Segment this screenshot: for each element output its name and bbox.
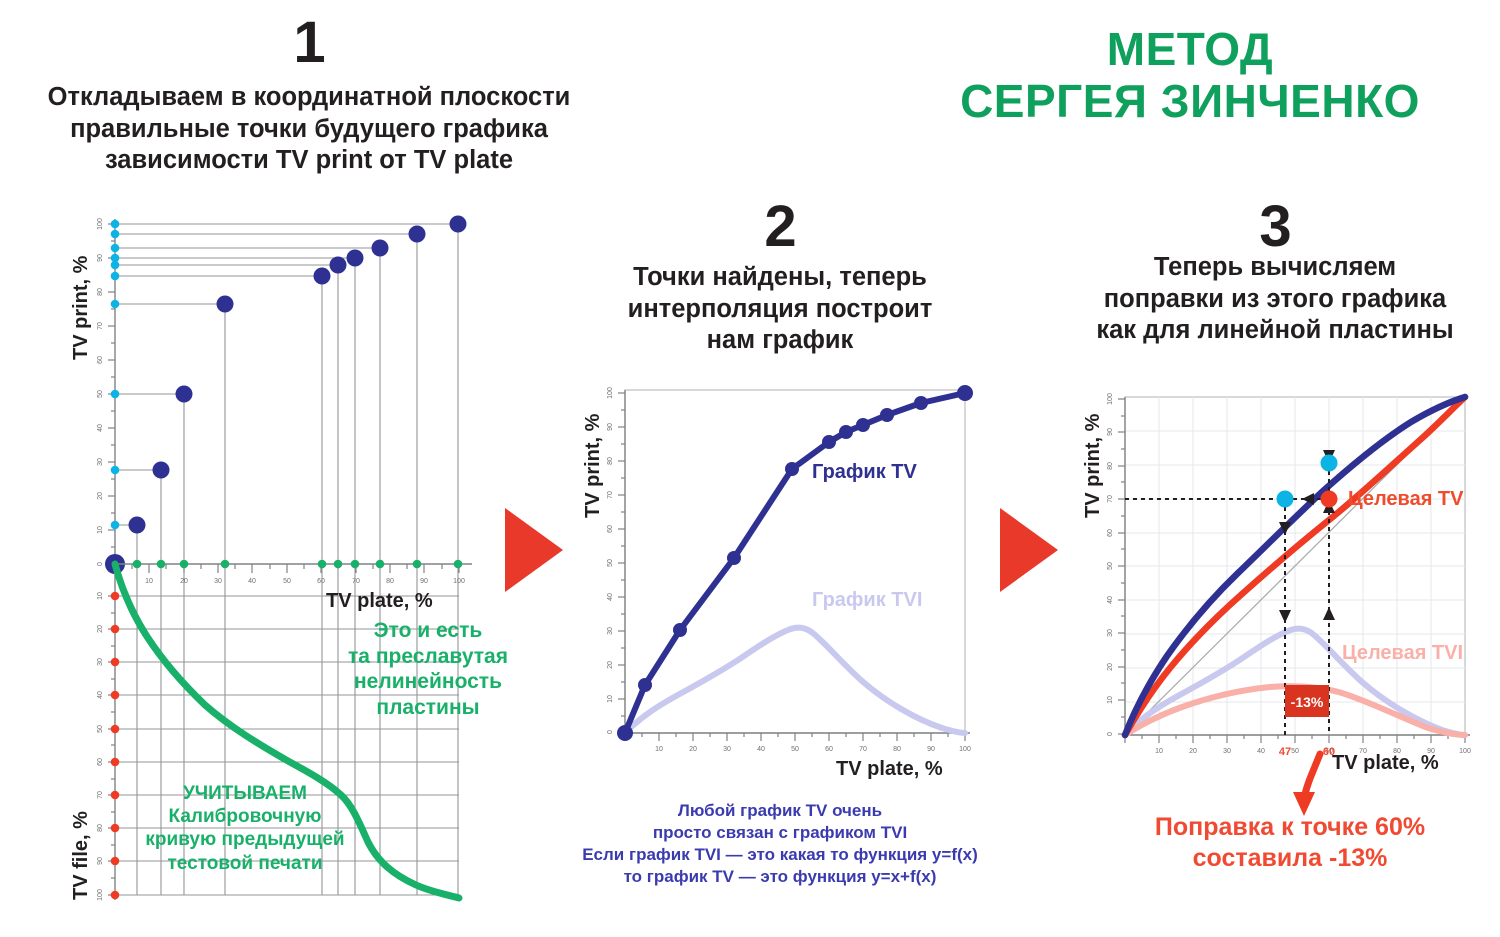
panel3-correction-box-label: -13%	[1291, 694, 1324, 710]
arrow-step-1-to-2	[505, 508, 563, 592]
svg-text:80: 80	[607, 457, 614, 465]
svg-text:30: 30	[1107, 629, 1114, 637]
panel1-note-calibration-line4: тестовой печати	[120, 852, 370, 875]
svg-text:40: 40	[607, 593, 614, 601]
svg-text:50: 50	[791, 746, 799, 753]
panel2-y-ticks	[618, 393, 625, 732]
step-heading-1-line1: Откладываем в координатной плоскости	[0, 82, 618, 114]
svg-text:50: 50	[283, 578, 291, 585]
panel3-x-ticks	[1125, 735, 1465, 743]
panel1-note-calibration-line1: УЧИТЫВАЕМ	[120, 782, 370, 805]
panel1-note-calibration-line3: кривую предыдущей	[120, 828, 370, 851]
step-heading-3-line1: Теперь вычисляем	[1060, 252, 1490, 284]
step-heading-3-line2: поправки из этого графика	[1060, 284, 1490, 316]
main-title: МЕТОД СЕРГЕЯ ЗИНЧЕНКО	[900, 24, 1480, 127]
svg-text:70: 70	[97, 791, 104, 799]
step-heading-2-line1: Точки найдены, теперь	[570, 262, 990, 294]
svg-text:20: 20	[97, 492, 104, 500]
panel1-note-calibration: УЧИТЫВАЕМ Калибровочную кривую предыдуще…	[120, 782, 370, 875]
svg-text:70: 70	[1107, 495, 1114, 503]
infographic-canvas: МЕТОД СЕРГЕЯ ЗИНЧЕНКО 1 Откладываем в ко…	[0, 0, 1500, 937]
svg-text:40: 40	[97, 424, 104, 432]
panel3-point-target-red	[1321, 491, 1338, 508]
panel2-label-tvi: График TVI	[812, 589, 922, 611]
panel2-x-axis-title: TV plate, %	[836, 758, 943, 781]
svg-text:90: 90	[97, 254, 104, 262]
panel3-y-axis-title: TV print, %	[1082, 414, 1105, 518]
panel2-plot-frame	[625, 390, 965, 733]
panel2-caption-line3: Если график TVI — это какая то функция y…	[540, 844, 1020, 866]
svg-text:100: 100	[453, 578, 465, 585]
main-title-line2: СЕРГЕЯ ЗИНЧЕНКО	[900, 76, 1480, 128]
panel1-note-nonlinearity: Это и есть та преславутая нелинейность п…	[330, 618, 526, 720]
svg-text:100: 100	[97, 218, 104, 230]
svg-text:20: 20	[1189, 748, 1197, 755]
panel2-y-axis-title: TV print, %	[582, 414, 605, 518]
svg-text:70: 70	[97, 322, 104, 330]
svg-text:20: 20	[97, 625, 104, 633]
svg-text:100: 100	[607, 387, 614, 399]
svg-text:60: 60	[1107, 529, 1114, 537]
svg-text:10: 10	[97, 526, 104, 534]
svg-text:40: 40	[1107, 596, 1114, 604]
panel3-label-target-tv: Целевая TV	[1348, 488, 1464, 510]
svg-text:40: 40	[248, 578, 256, 585]
step-heading-1-line2: правильные точки будущего графика	[0, 114, 618, 146]
svg-text:90: 90	[97, 857, 104, 865]
panel3-caption-line2: составила -13%	[1090, 843, 1490, 874]
svg-text:0: 0	[607, 730, 614, 734]
panel2-x-ticks	[625, 733, 965, 741]
svg-text:30: 30	[1223, 748, 1231, 755]
panel2-caption-line2: просто связан с графиком TVI	[540, 822, 1020, 844]
panel1-x-axis: 10 20 30 40 50 60 70 80 90 100	[115, 560, 472, 585]
panel2-label-tv: График TV	[812, 461, 917, 483]
panel1-bottom-y-ticklabels: 10 20 30 40 50 60 70 80 90 100	[97, 592, 104, 901]
svg-text:10: 10	[1107, 696, 1114, 704]
svg-text:30: 30	[607, 627, 614, 635]
svg-text:70: 70	[607, 491, 614, 499]
panel2-caption-line1: Любой график TV очень	[540, 800, 1020, 822]
panel3-point-tv-cyan-2	[1321, 455, 1338, 472]
panel1-x-axis-title: TV plate, %	[326, 590, 433, 613]
panel1-data-points	[105, 216, 467, 575]
svg-text:60: 60	[317, 578, 325, 585]
svg-text:30: 30	[97, 458, 104, 466]
svg-text:50: 50	[97, 390, 104, 398]
step-heading-3: Теперь вычисляем поправки из этого графи…	[1060, 252, 1490, 347]
svg-text:90: 90	[420, 578, 428, 585]
panel1-note-nonlinearity-line3: нелинейность	[330, 669, 526, 695]
svg-text:100: 100	[959, 746, 971, 753]
svg-text:50: 50	[607, 559, 614, 567]
step-heading-2: Точки найдены, теперь интерполяция постр…	[570, 262, 990, 357]
svg-text:40: 40	[757, 746, 765, 753]
panel1-y-axis-title-bottom: TV file, %	[70, 811, 93, 900]
step-heading-1: Откладываем в координатной плоскости пра…	[0, 82, 618, 177]
svg-text:30: 30	[723, 746, 731, 753]
svg-text:80: 80	[893, 746, 901, 753]
panel3-y-ticks	[1118, 399, 1125, 734]
panel2-caption: Любой график TV очень просто связан с гр…	[540, 800, 1020, 888]
panel3-y-ticklabels: 100 90 80 70 60 50 40 30 20 10 0	[1107, 393, 1114, 736]
svg-text:10: 10	[655, 746, 663, 753]
panel3-caption-line1: Поправка к точке 60%	[1090, 812, 1490, 843]
panel1-note-calibration-line2: Калибровочную	[120, 805, 370, 828]
svg-text:40: 40	[1257, 748, 1265, 755]
svg-text:60: 60	[97, 758, 104, 766]
svg-text:10: 10	[1155, 748, 1163, 755]
svg-text:80: 80	[386, 578, 394, 585]
panel3-point-tv-cyan	[1277, 491, 1294, 508]
svg-text:0: 0	[1107, 732, 1114, 736]
svg-text:80: 80	[97, 288, 104, 296]
step-heading-1-line3: зависимости TV print от TV plate	[0, 145, 618, 177]
svg-text:10: 10	[145, 578, 153, 585]
svg-text:20: 20	[689, 746, 697, 753]
panel2-series-tv	[625, 393, 965, 733]
svg-text:100: 100	[1459, 748, 1471, 755]
step-heading-3-line3: как для линейной пластины	[1060, 315, 1490, 347]
step-number-2: 2	[560, 198, 1000, 256]
svg-text:0: 0	[97, 562, 104, 566]
panel2-y-ticklabels: 100 90 80 70 60 50 40 30 20 10 0	[607, 387, 614, 734]
panel2-series-tvi	[625, 628, 965, 733]
svg-text:20: 20	[607, 661, 614, 669]
svg-text:60: 60	[97, 356, 104, 364]
svg-text:30: 30	[214, 578, 222, 585]
step-number-1: 1	[0, 14, 618, 72]
svg-text:70: 70	[352, 578, 360, 585]
svg-text:50: 50	[1107, 562, 1114, 570]
panel3-label-target-tvi: Целевая TVI	[1342, 642, 1463, 664]
svg-text:80: 80	[1107, 462, 1114, 470]
step-heading-2-line2: интерполяция построит	[570, 294, 990, 326]
svg-text:100: 100	[1107, 393, 1114, 405]
panel2-caption-line4: то график TV — это функция y=x+f(x)	[540, 866, 1020, 888]
svg-text:90: 90	[927, 746, 935, 753]
panel-2-chart: 100 90 80 70 60 50 40 30 20 10 0	[570, 378, 990, 753]
panel1-y-axis-title-top: TV print, %	[70, 256, 93, 360]
svg-text:80: 80	[97, 824, 104, 832]
panel1-note-nonlinearity-line1: Это и есть	[330, 618, 526, 644]
panel1-top-y-ticklabels: 100 90 80 70 60 50 40 30 20 10 0	[97, 218, 104, 566]
panel1-note-nonlinearity-line2: та преславутая	[330, 644, 526, 670]
panel3-caption: Поправка к точке 60% составила -13%	[1090, 812, 1490, 874]
panel-3-chart: 100 90 80 70 60 50 40 30 20 10 0	[1070, 385, 1490, 765]
arrow-step-2-to-3	[1000, 508, 1058, 592]
panel1-h-leader-lines	[115, 224, 458, 525]
svg-text:10: 10	[607, 695, 614, 703]
panel2-x-ticklabels: 10 20 30 40 50 60 70 80 90 100	[655, 746, 971, 753]
svg-text:20: 20	[1107, 663, 1114, 671]
svg-text:70: 70	[859, 746, 867, 753]
svg-text:100: 100	[97, 889, 104, 901]
svg-text:50: 50	[97, 725, 104, 733]
svg-text:60: 60	[825, 746, 833, 753]
step-number-3: 3	[1055, 198, 1495, 256]
svg-text:90: 90	[607, 423, 614, 431]
step-heading-2-line3: нам график	[570, 325, 990, 357]
panel1-note-nonlinearity-line4: пластины	[330, 695, 526, 721]
panel2-series-tv-markers	[617, 385, 973, 741]
svg-text:10: 10	[97, 592, 104, 600]
main-title-line1: МЕТОД	[900, 24, 1480, 76]
svg-text:30: 30	[97, 658, 104, 666]
svg-text:60: 60	[607, 525, 614, 533]
svg-text:20: 20	[180, 578, 188, 585]
svg-text:90: 90	[1107, 428, 1114, 436]
svg-text:40: 40	[97, 691, 104, 699]
